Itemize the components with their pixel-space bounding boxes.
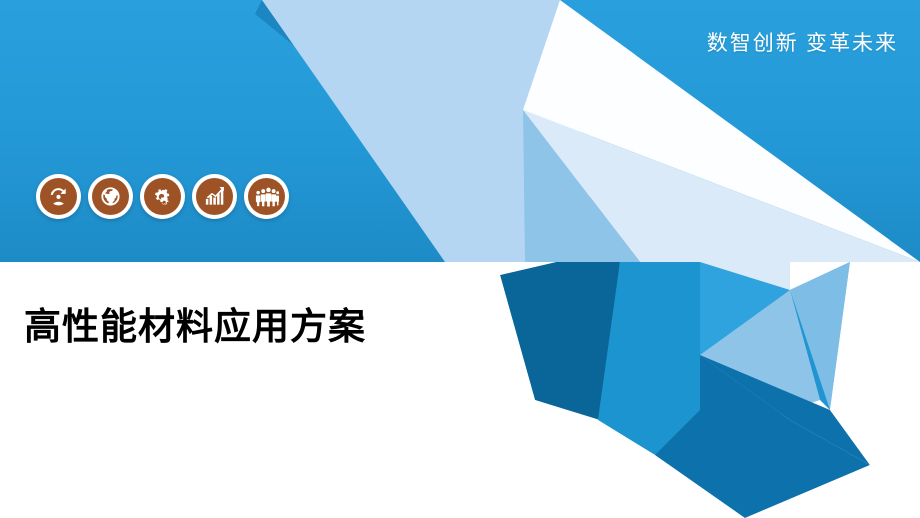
polygon-decoration <box>0 0 920 518</box>
icon-badge-globe[interactable] <box>88 174 133 219</box>
title-slide: 数智创新 变革未来 高性能材料应用方案 <box>0 0 920 518</box>
icon-badge-chart[interactable] <box>192 174 237 219</box>
recycle-arrow-icon <box>40 178 77 215</box>
page-title: 高性能材料应用方案 <box>24 296 366 350</box>
icon-badge-recycle[interactable] <box>36 174 81 219</box>
globe-icon <box>92 178 129 215</box>
tagline-text: 数智创新 变革未来 <box>707 27 898 57</box>
people-group-icon <box>248 178 285 215</box>
bar-chart-growth-icon <box>196 178 233 215</box>
icon-badge-people[interactable] <box>244 174 289 219</box>
icon-badge-gears[interactable] <box>140 174 185 219</box>
icon-strip <box>36 174 289 219</box>
gears-icon <box>144 178 181 215</box>
